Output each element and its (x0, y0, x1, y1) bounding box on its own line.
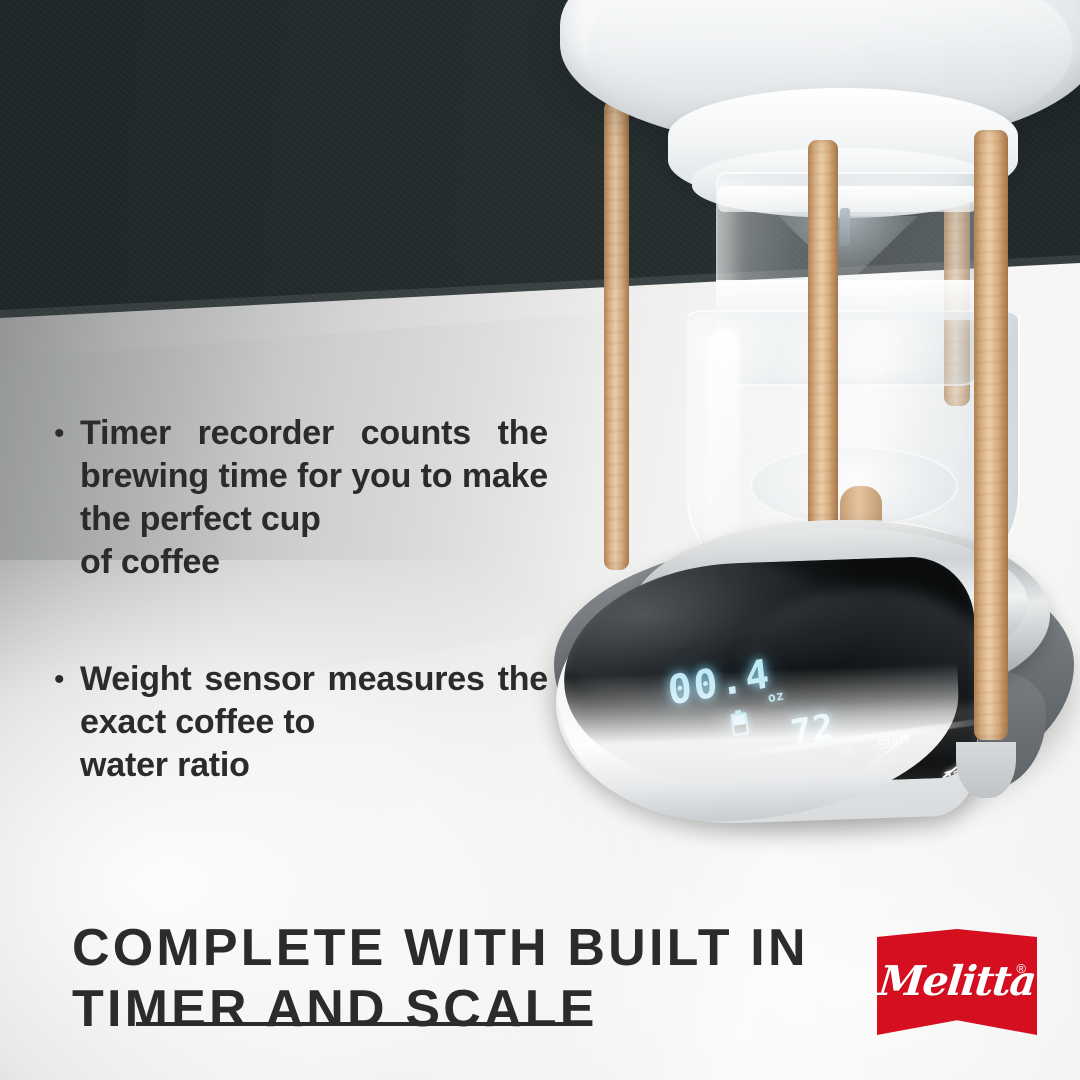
bullet-marker-icon: • (48, 658, 80, 702)
pour-over-coffee-maker: 00.4 oz 72 °F Start Stop On Tare (540, 0, 1080, 860)
feature-bullet-item-1: • Timer recorder counts the brewing time… (48, 412, 548, 584)
wooden-leg-front-right (974, 130, 1008, 740)
headline: COMPLETE WITH BUILT IN TIMER AND SCALE (72, 918, 832, 1040)
bullet-marker-icon: • (48, 412, 80, 456)
feature-bullet-text-1: Timer recorder counts the brewing time f… (80, 412, 548, 584)
feature-bullet-text-2: Weight sensor measures the exact coffee … (80, 658, 548, 787)
wooden-leg-back-left (604, 100, 629, 570)
feature-bullet-lastline-1: of coffee (80, 541, 548, 584)
drip-stem (840, 208, 850, 246)
feature-bullet-item-2: • Weight sensor measures the exact coffe… (48, 658, 548, 787)
feature-bullet-lastline-2: water ratio (80, 744, 548, 787)
wooden-leg-front-left (808, 140, 838, 570)
product-feature-image: 00.4 oz 72 °F Start Stop On Tare • Time (0, 0, 1080, 1080)
feature-bullet-list: • Timer recorder counts the brewing time… (48, 412, 548, 787)
headline-line-2: TIMER AND SCALE (72, 979, 832, 1040)
registered-trademark-icon: ® (1016, 961, 1026, 976)
melitta-logo: Melitta ® (877, 929, 1037, 1043)
feature-bullet-body-2: Weight sensor measures the exact coffee … (80, 660, 548, 741)
feature-bullet-body-1: Timer recorder counts the brewing time f… (80, 414, 548, 538)
logo-wordmark: Melitta (874, 957, 1039, 1005)
headline-line-1: COMPLETE WITH BUILT IN (72, 919, 809, 977)
